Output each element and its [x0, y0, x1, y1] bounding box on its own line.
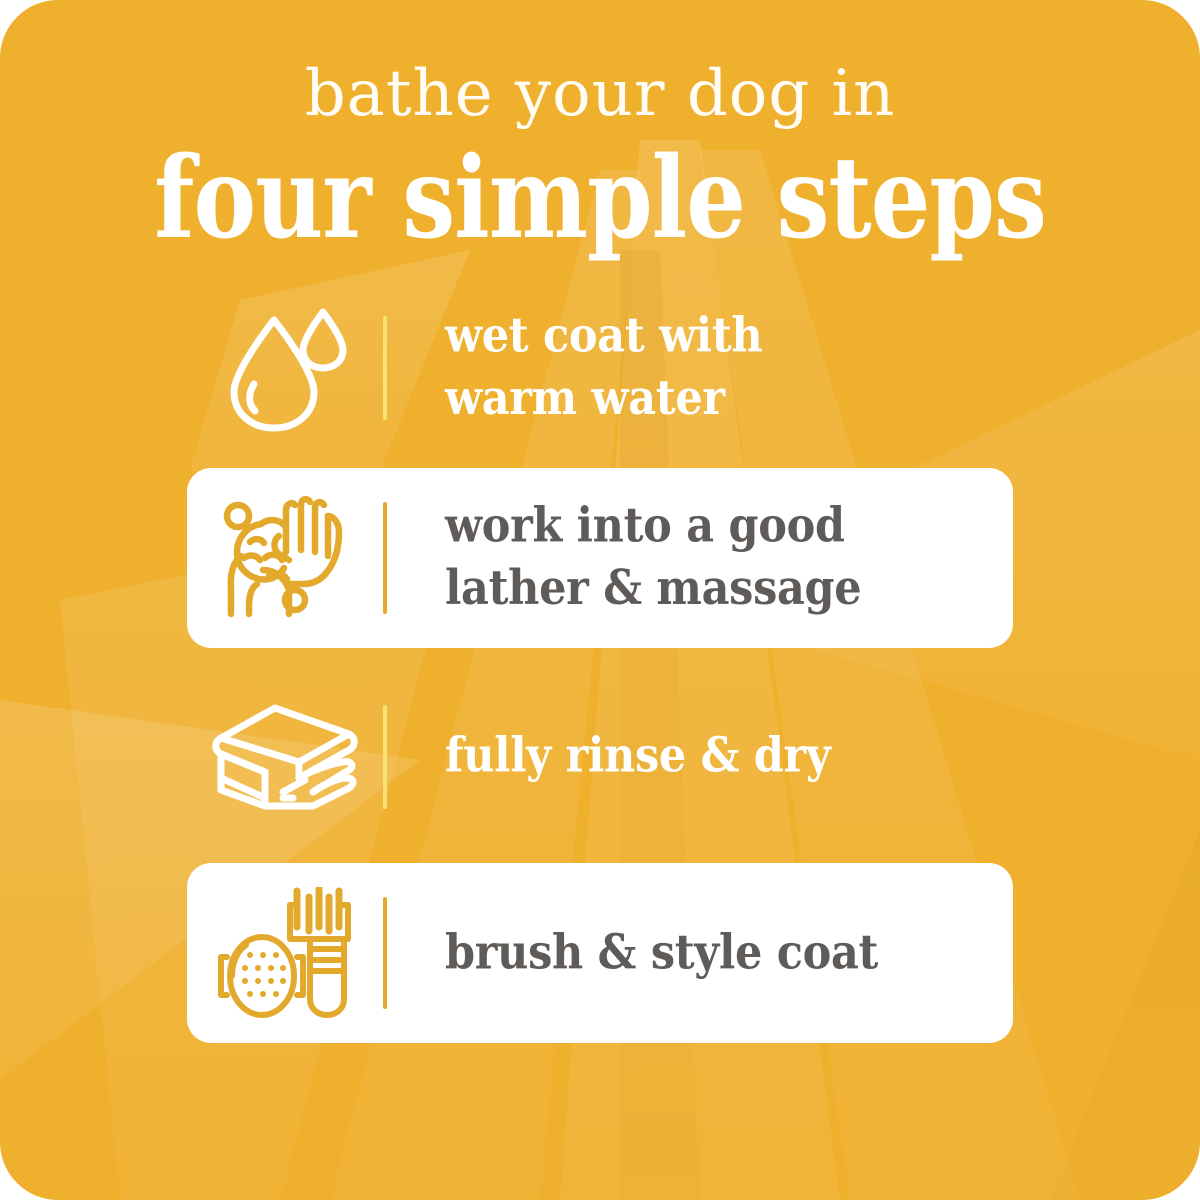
step-label-3: fully rinse & dry	[387, 725, 1013, 787]
folded-towels-icon	[187, 702, 383, 812]
hands-lather-dog-icon	[187, 496, 383, 620]
grooming-brushes-icon	[187, 887, 383, 1019]
water-drop-icon	[187, 304, 383, 432]
steps-list: wet coat with warm water	[0, 285, 1200, 1043]
step-label-1: wet coat with warm water	[387, 305, 1013, 430]
step-label-line-2: warm water	[445, 368, 1013, 430]
step-row-2: work into a good lather & massage	[187, 468, 1013, 648]
step-label-line-1: brush & style coat	[445, 922, 1013, 984]
step-label-2: work into a good lather & massage	[387, 496, 1013, 621]
poster-canvas: bathe your dog in four simple steps wet …	[0, 0, 1200, 1200]
heading-block: bathe your dog in four simple steps	[0, 62, 1200, 234]
step-label-line-1: work into a good	[445, 496, 1013, 558]
kicker-text: bathe your dog in	[0, 62, 1200, 126]
step-row-3: fully rinse & dry	[187, 674, 1013, 839]
step-label-4: brush & style coat	[387, 922, 1013, 984]
step-row-1: wet coat with warm water	[187, 285, 1013, 450]
step-label-line-1: fully rinse & dry	[445, 725, 1013, 787]
step-row-4: brush & style coat	[187, 863, 1013, 1043]
step-label-line-1: wet coat with	[445, 305, 1013, 367]
step-label-line-2: lather & massage	[445, 558, 1013, 620]
page-title: four simple steps	[0, 142, 1200, 254]
